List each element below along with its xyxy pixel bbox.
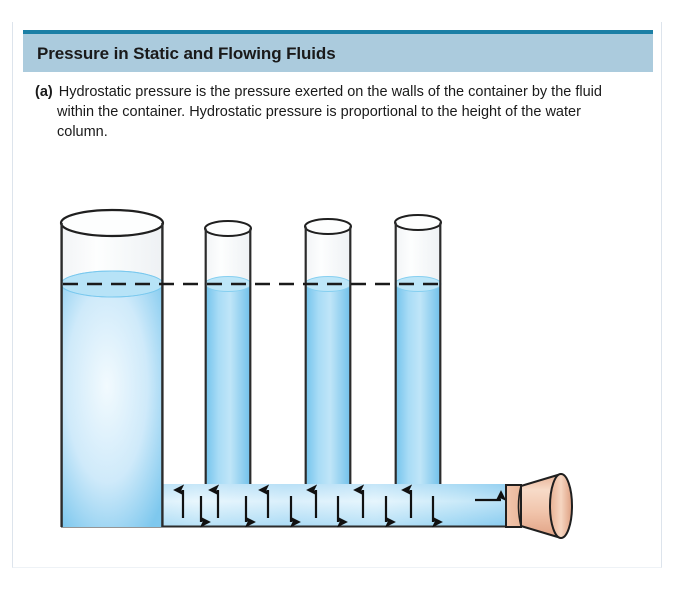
riser-tube-1 (205, 221, 251, 484)
riser-tube-2 (305, 219, 351, 484)
hydrostatic-pressure-diagram (13, 22, 663, 568)
outflow-nozzle (506, 474, 572, 538)
riser-tube-3 (395, 215, 441, 484)
large-water-column (61, 210, 163, 527)
figure-card: Pressure in Static and Flowing Fluids (a… (12, 22, 662, 568)
